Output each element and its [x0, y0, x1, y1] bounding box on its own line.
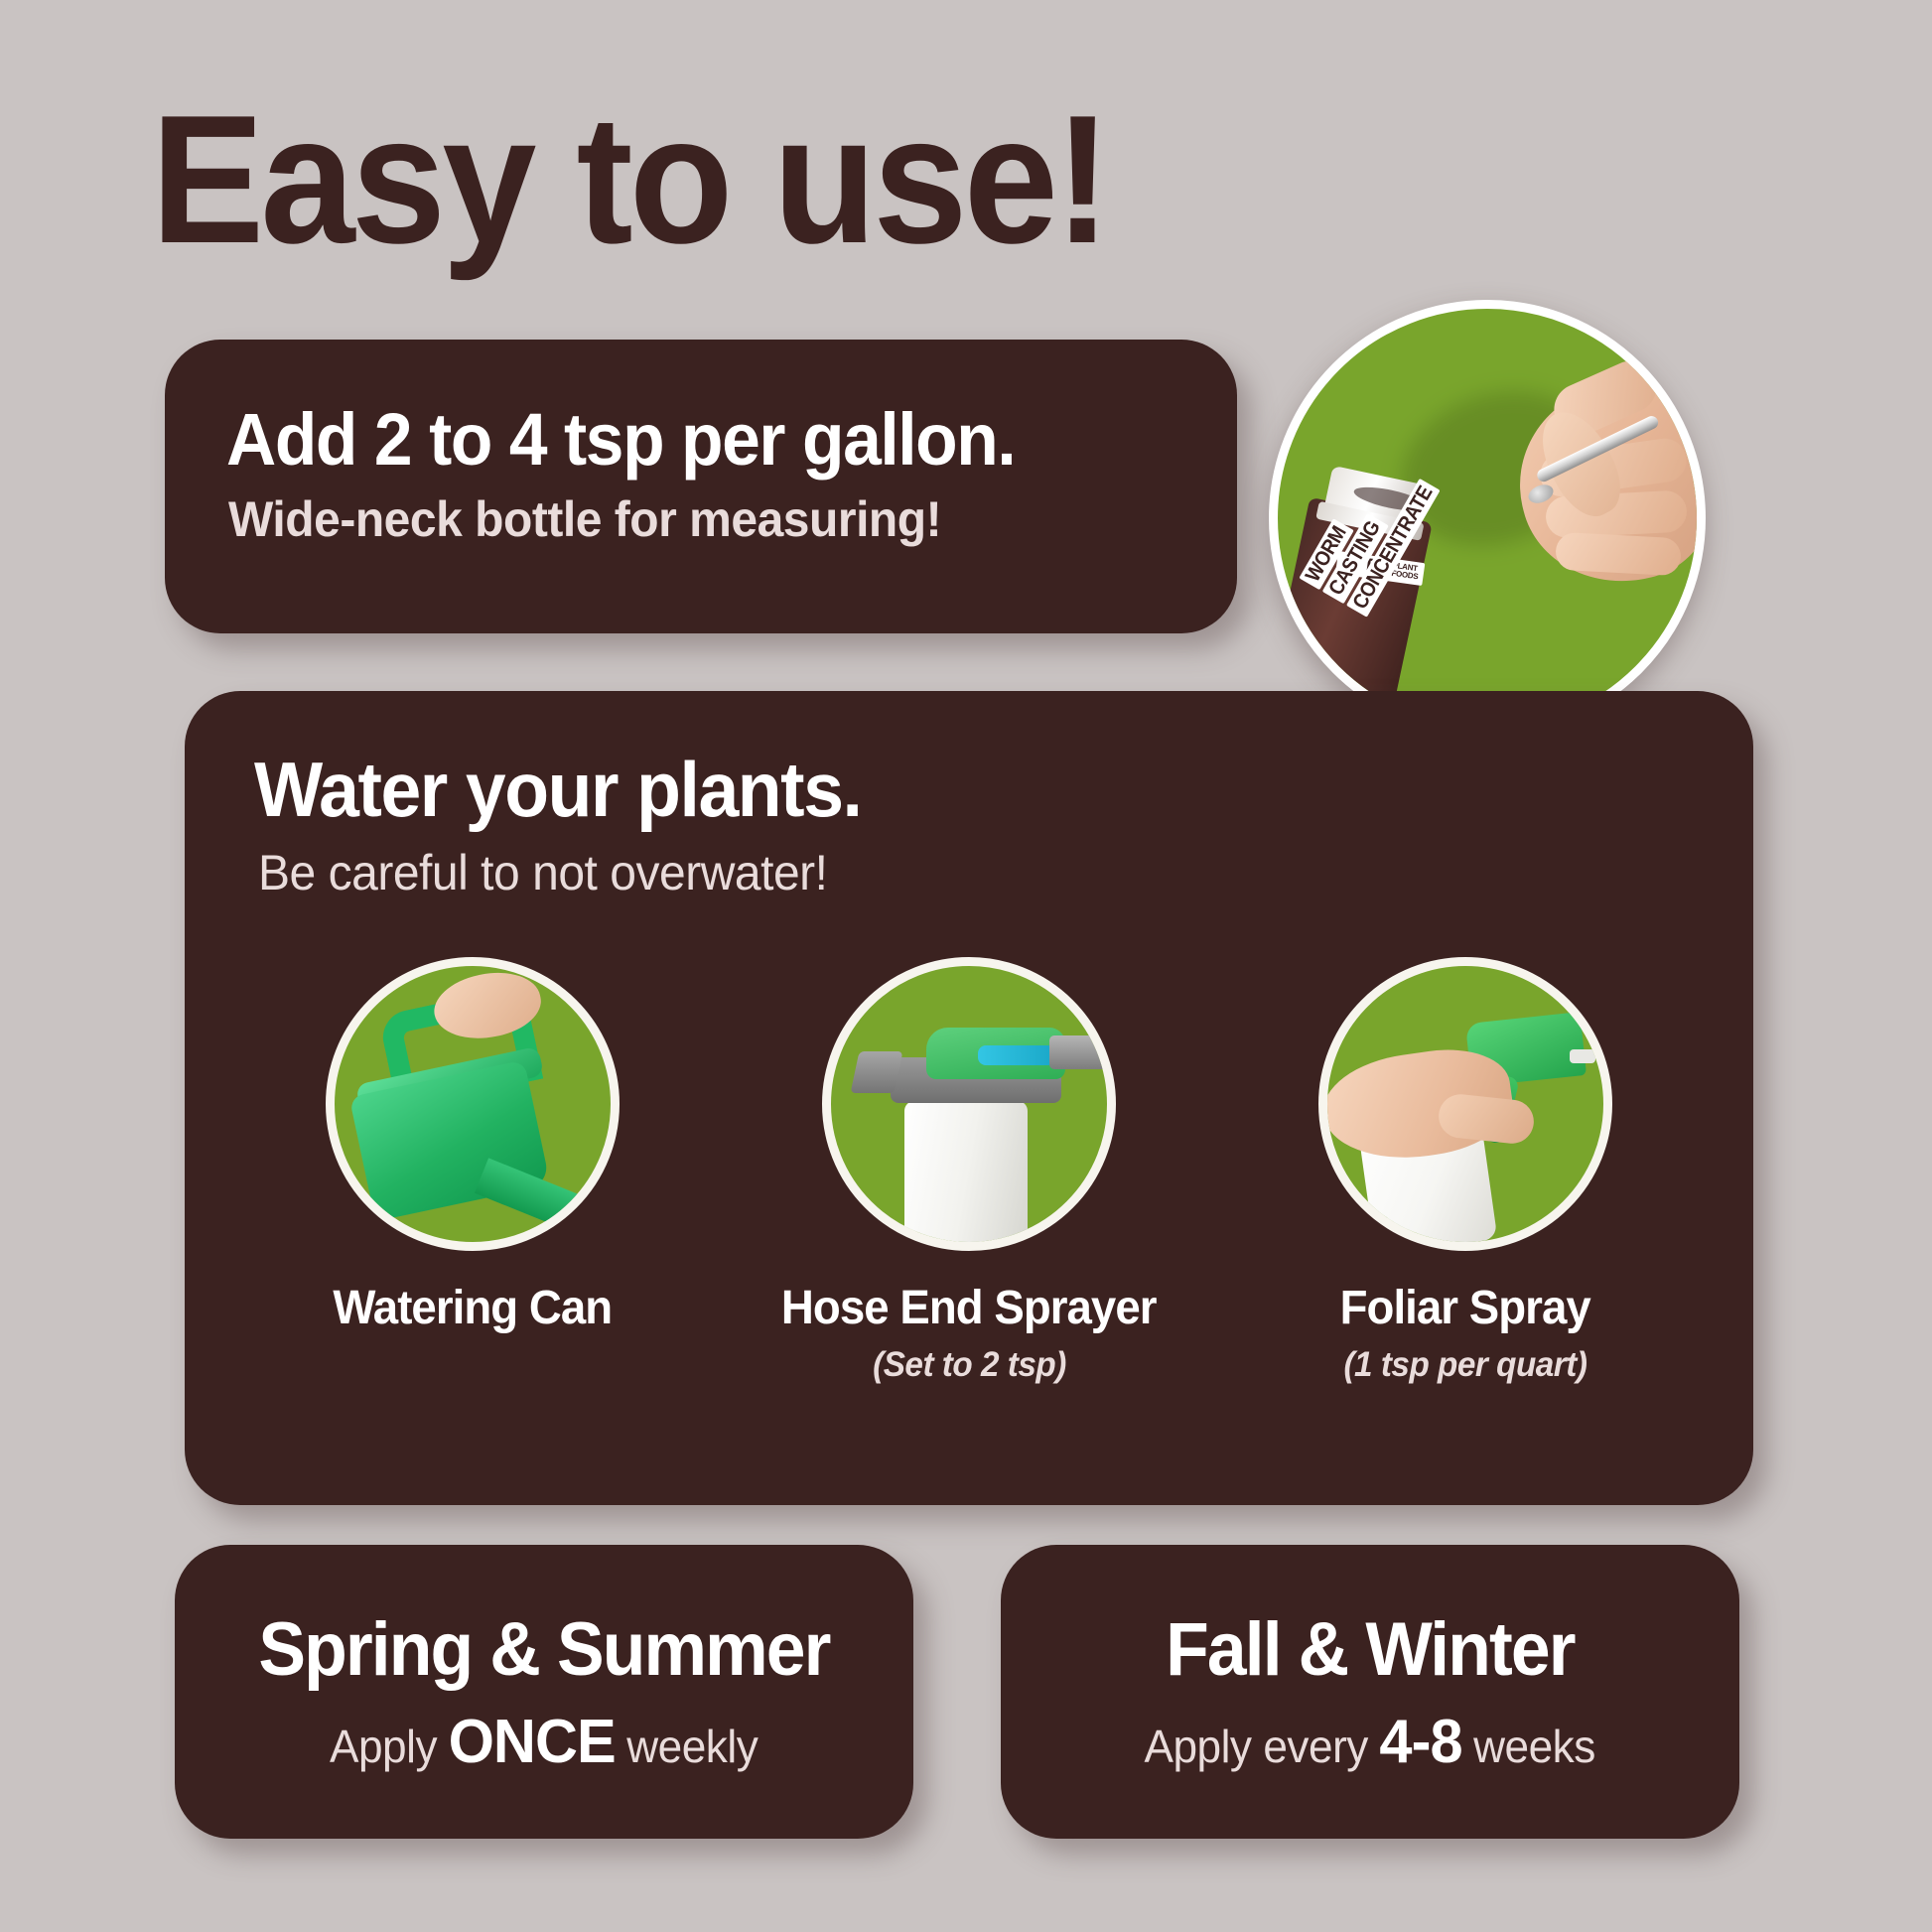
foliar-spray-icon [1318, 957, 1612, 1251]
finger-pinky [1555, 532, 1682, 577]
tool-label: Watering Can [334, 1281, 613, 1335]
season-text-after: weeks [1473, 1720, 1595, 1773]
season-text-before: Apply [330, 1720, 437, 1773]
water-heading: Water your plants. [254, 745, 862, 835]
sprayer-dial-window [978, 1045, 1055, 1065]
sprayer-nozzle [851, 1051, 903, 1093]
sprayer-hose-connector [1049, 1035, 1107, 1069]
hand-with-spoon [1476, 354, 1706, 603]
tool-hose-end-sprayer: Hose End Sprayer (Set to 2 tsp) [760, 957, 1177, 1385]
tps-logo-sub-foods: FOODS [1391, 570, 1419, 581]
season-text-after: weekly [627, 1720, 759, 1773]
season-frequency: Apply ONCE weekly [330, 1707, 758, 1777]
tool-list: Watering Can Hose End Sprayer (Set to 2 … [185, 957, 1753, 1385]
measure-subtitle: Wide-neck bottle for measuring! [228, 490, 941, 548]
tool-note: (1 tsp per quart) [1343, 1345, 1587, 1385]
season-emphasis: ONCE [449, 1707, 616, 1777]
card-water-plants: Water your plants. Be careful to not ove… [185, 691, 1753, 1505]
season-emphasis: 4-8 [1380, 1707, 1462, 1777]
tool-watering-can: Watering Can [264, 957, 681, 1385]
card-fall-winter: Fall & Winter Apply every 4-8 weeks [1001, 1545, 1739, 1839]
season-text-before: Apply every [1145, 1720, 1368, 1773]
card-spring-summer: Spring & Summer Apply ONCE weekly [175, 1545, 913, 1839]
tool-foliar-spray: Foliar Spray (1 tsp per quart) [1257, 957, 1674, 1385]
tool-note: (Set to 2 tsp) [873, 1345, 1066, 1385]
sprayer-tank [904, 1101, 1028, 1248]
bottle-photo-circle: TPS PLANT FOODS WORM CASTING CONCENTRATE [1269, 300, 1706, 737]
measure-heading: Add 2 to 4 tsp per gallon. [226, 397, 1015, 482]
season-title: Spring & Summer [258, 1606, 829, 1693]
water-subtitle: Be careful to not overwater! [258, 844, 828, 901]
season-frequency: Apply every 4-8 weeks [1145, 1707, 1595, 1777]
spray-nozzle-tip [1570, 1049, 1595, 1063]
tool-label: Hose End Sprayer [781, 1281, 1157, 1335]
hose-end-sprayer-icon [822, 957, 1116, 1251]
season-title: Fall & Winter [1166, 1606, 1575, 1693]
tool-label: Foliar Spray [1340, 1281, 1590, 1335]
card-measure: Add 2 to 4 tsp per gallon. Wide-neck bot… [165, 340, 1237, 633]
page-title: Easy to use! [151, 87, 1107, 270]
watering-can-icon [326, 957, 620, 1251]
